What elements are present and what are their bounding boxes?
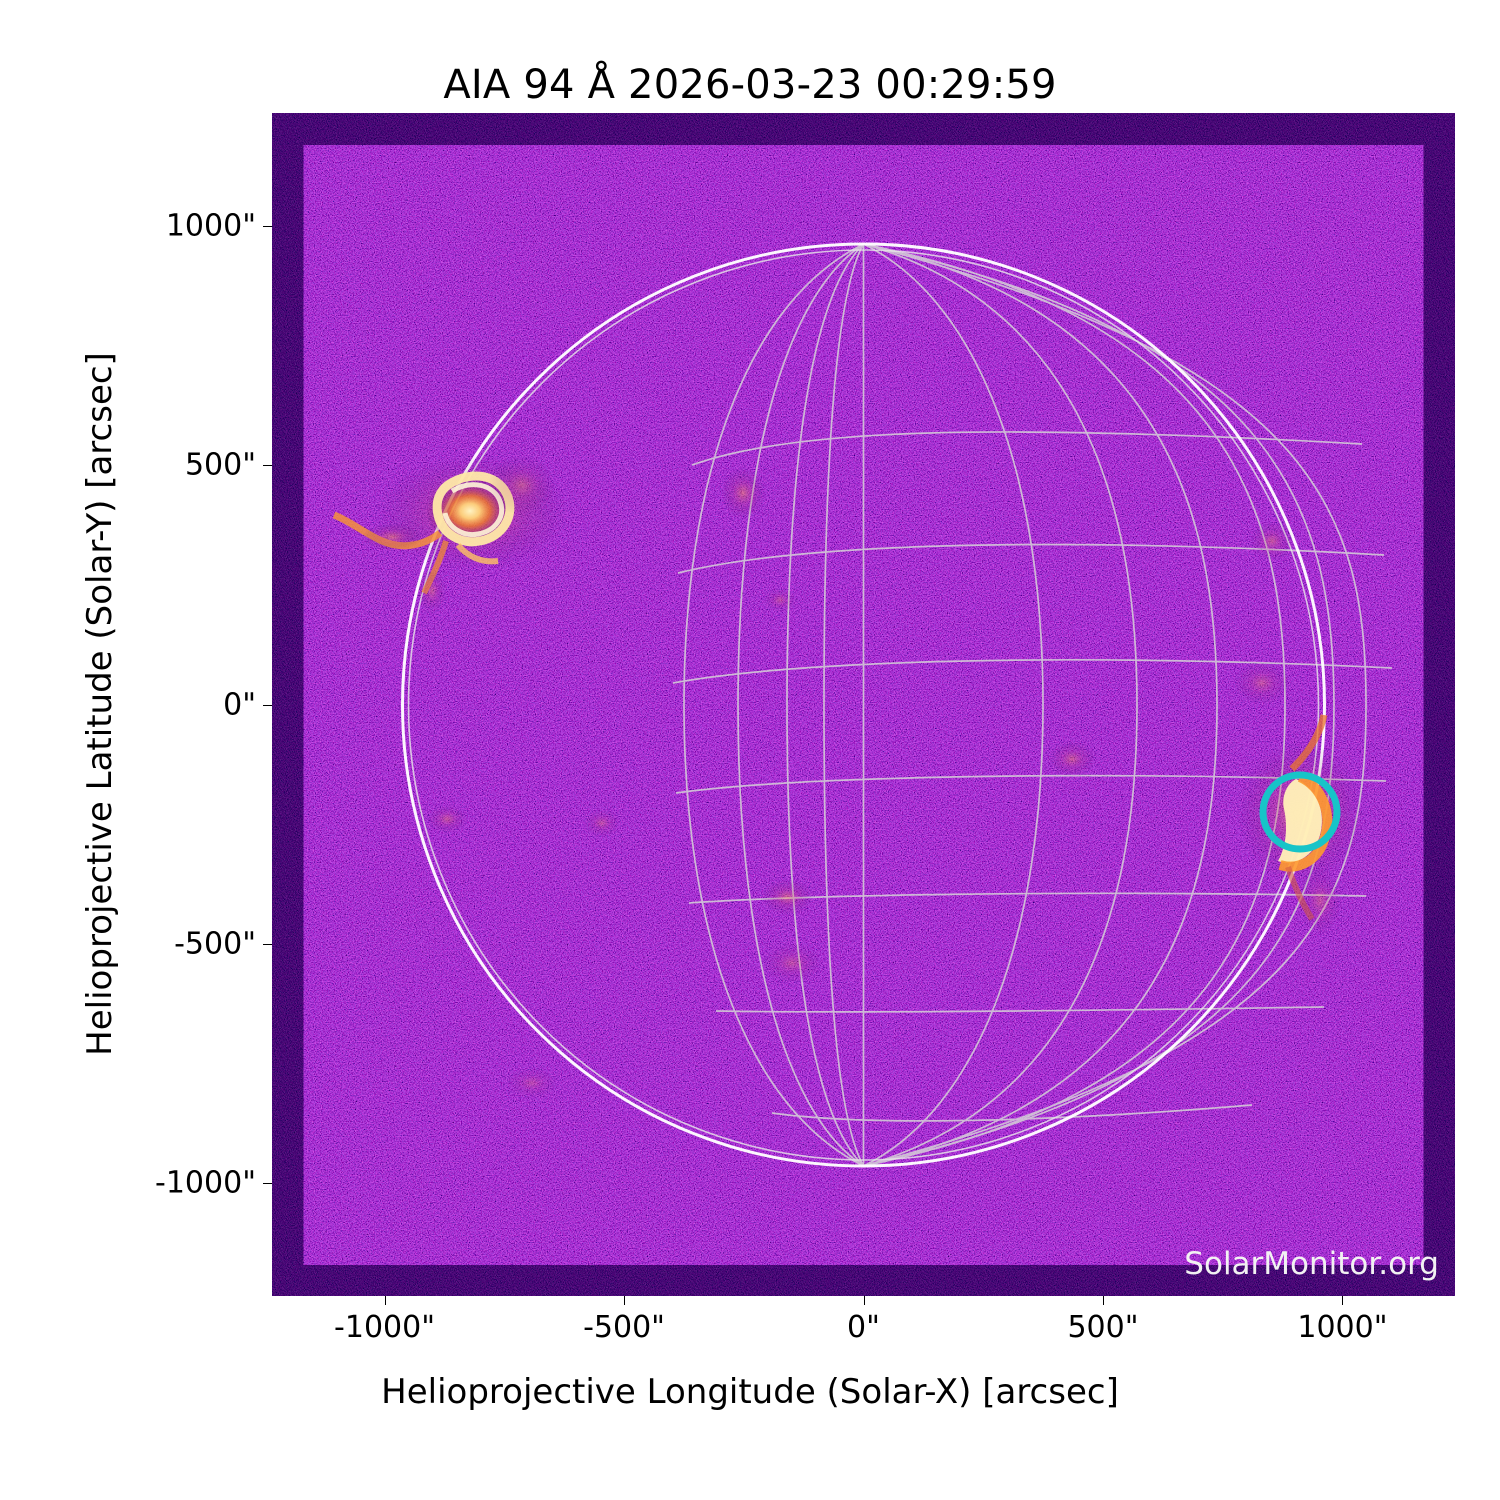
- x-tick-mark: [1342, 1296, 1343, 1305]
- y-tick-mark: [263, 1183, 272, 1184]
- x-tick-label: 1000": [1297, 1310, 1387, 1345]
- x-tick-mark: [1103, 1296, 1104, 1305]
- y-tick-mark: [263, 226, 272, 227]
- x-tick-label: -1000": [334, 1310, 435, 1345]
- y-tick-mark: [263, 944, 272, 945]
- x-tick-mark: [385, 1296, 386, 1305]
- x-tick-label: 0": [847, 1310, 880, 1345]
- x-tick-label: -500": [583, 1310, 665, 1345]
- solar-image-panel[interactable]: SolarMonitor.org: [272, 113, 1455, 1296]
- y-tick-mark: [263, 465, 272, 466]
- y-axis-label: Helioprojective Latitude (Solar-Y) [arcs…: [80, 352, 120, 1056]
- y-tick-label: 1000": [166, 208, 256, 243]
- x-tick-mark: [624, 1296, 625, 1305]
- y-tick-label: 0": [223, 687, 256, 722]
- y-tick-label: -500": [174, 926, 256, 961]
- y-tick-mark: [263, 705, 272, 706]
- figure-title: AIA 94 Å 2026-03-23 00:29:59: [0, 62, 1500, 108]
- y-tick-label: -1000": [155, 1166, 256, 1201]
- euv-image-canvas: [272, 113, 1455, 1296]
- x-tick-mark: [864, 1296, 865, 1305]
- x-axis-label: Helioprojective Longitude (Solar-X) [arc…: [0, 1372, 1500, 1412]
- watermark: SolarMonitor.org: [1184, 1246, 1439, 1282]
- solar-image-figure: AIA 94 Å 2026-03-23 00:29:59: [0, 0, 1500, 1500]
- x-tick-label: 500": [1067, 1310, 1138, 1345]
- y-tick-label: 500": [185, 448, 256, 483]
